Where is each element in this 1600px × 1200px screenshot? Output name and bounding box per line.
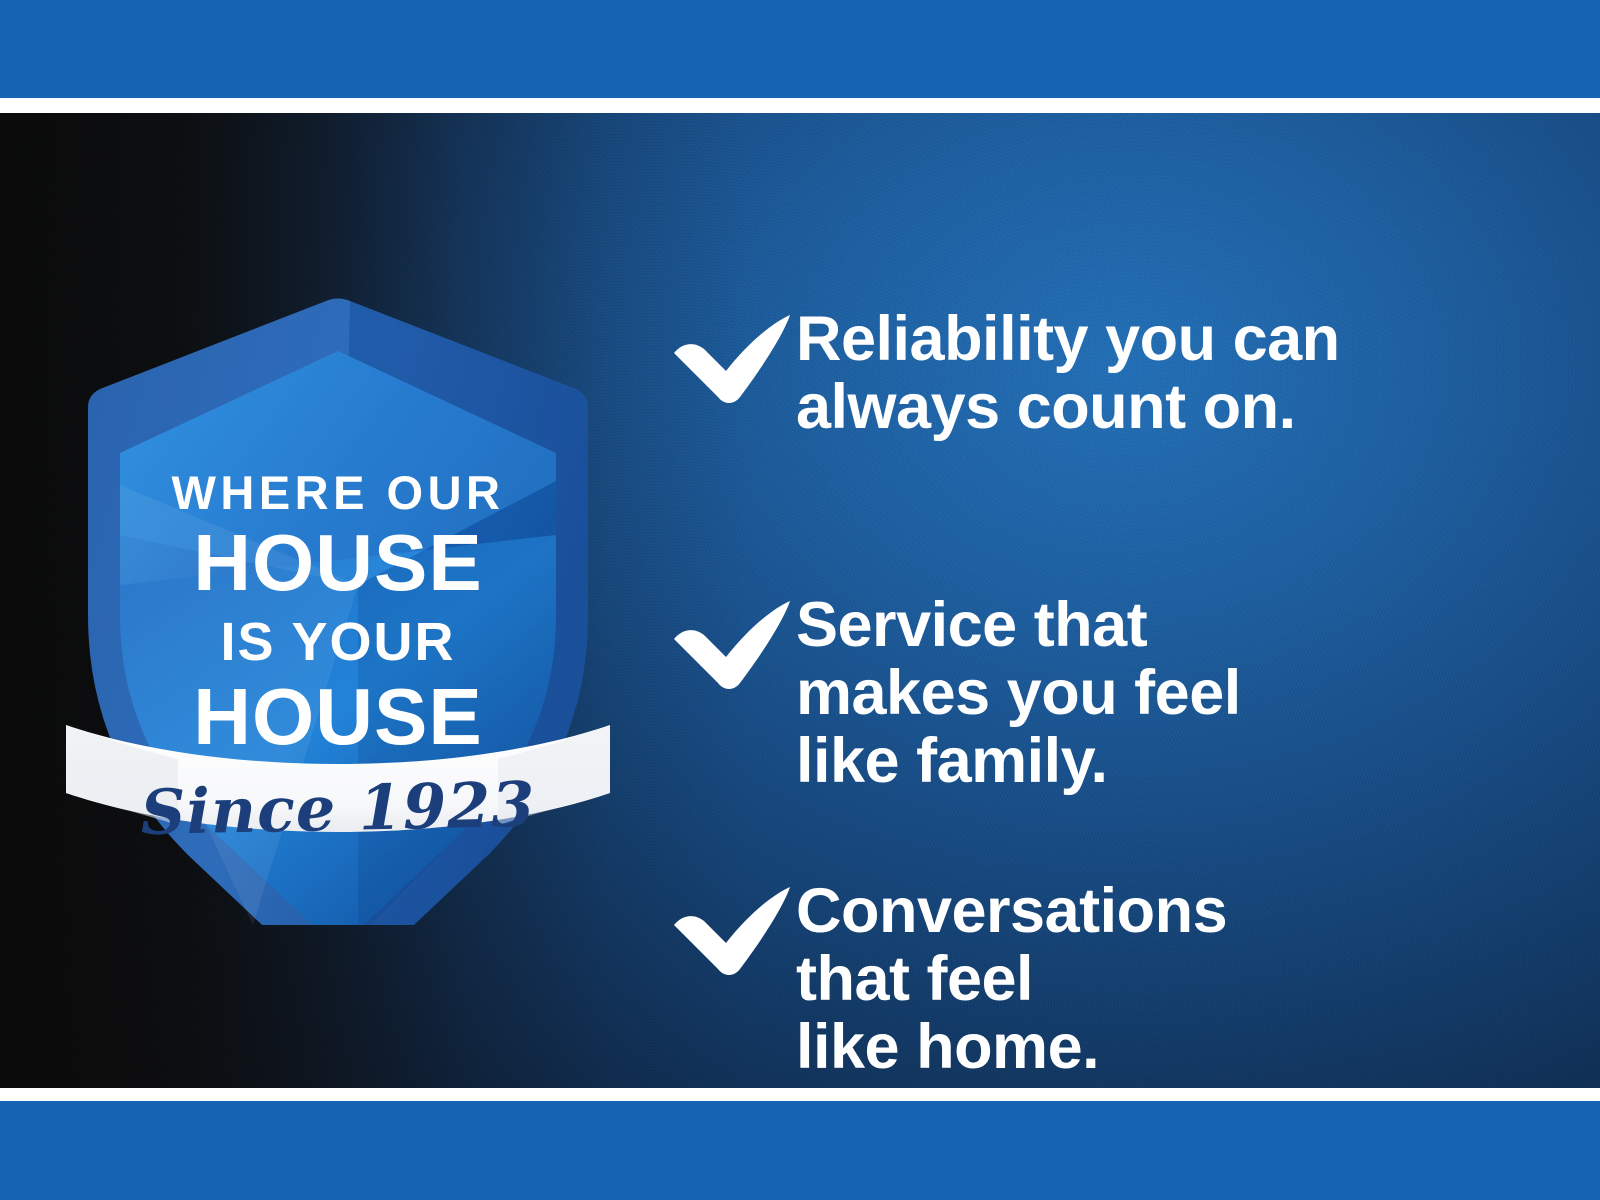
list-item: Reliability you can always count on. [668, 303, 1548, 441]
shield-line-1: WHERE OUR [58, 469, 618, 516]
shield-badge: WHERE OUR HOUSE IS YOUR HOUSE Since 1923 [58, 285, 618, 925]
ribbon-since-text: Since 1923 [57, 766, 618, 851]
promo-graphic: WHERE OUR HOUSE IS YOUR HOUSE Since 1923… [0, 0, 1600, 1200]
checkmark-icon [668, 881, 796, 977]
shield-line-2: HOUSE [58, 523, 618, 603]
list-item-label: Reliability you can always count on. [796, 303, 1340, 441]
list-item: Service that makes you feel like family. [668, 589, 1548, 795]
checkmark-icon [668, 595, 796, 691]
list-item-label: Service that makes you feel like family. [796, 589, 1241, 795]
benefits-list: Reliability you can always count on. Ser… [668, 303, 1548, 853]
list-item-label: Conversations that feel like home. [796, 875, 1227, 1081]
shield-line-4: HOUSE [58, 677, 618, 757]
main-canvas: WHERE OUR HOUSE IS YOUR HOUSE Since 1923… [0, 113, 1600, 1088]
shield-line-3: IS YOUR [58, 615, 618, 669]
top-brand-bar [0, 0, 1600, 98]
checkmark-icon [668, 309, 796, 405]
bottom-brand-bar [0, 1101, 1600, 1200]
list-item: Conversations that feel like home. [668, 875, 1548, 1081]
